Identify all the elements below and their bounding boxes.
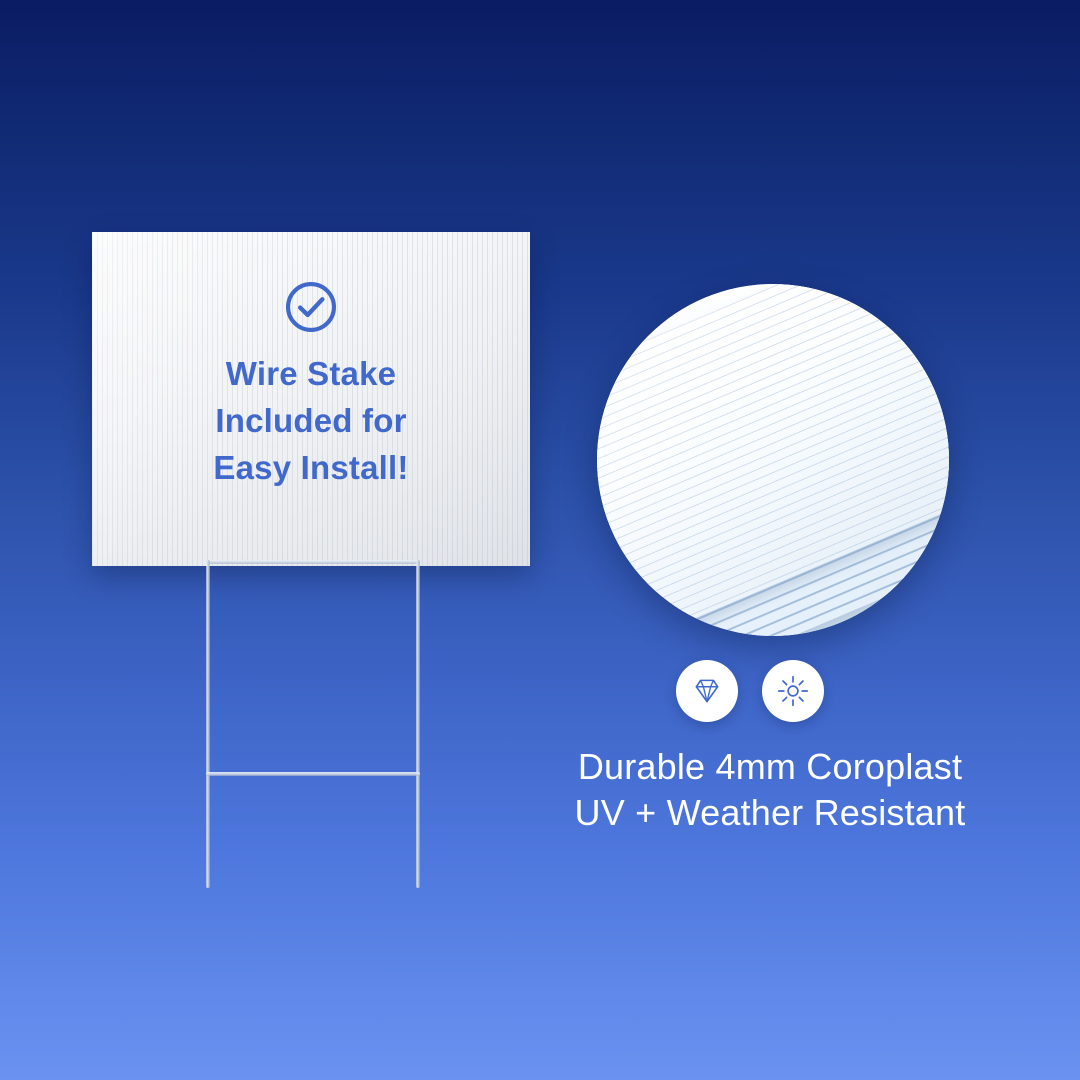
wire-stake-cross-bar <box>206 772 420 776</box>
check-circle-icon <box>282 278 340 336</box>
yard-sign-text: Wire Stake Included for Easy Install! <box>213 350 408 491</box>
badge-durable <box>676 660 738 722</box>
yard-sign-content: Wire Stake Included for Easy Install! <box>92 232 530 566</box>
wire-stake-left-leg <box>206 560 210 888</box>
caption-line-2: UV + Weather Resistant <box>540 790 1000 836</box>
yard-sign-line-3: Easy Install! <box>213 444 408 491</box>
caption-line-1: Durable 4mm Coroplast <box>540 744 1000 790</box>
wire-stake <box>206 560 420 888</box>
diamond-icon <box>690 674 724 708</box>
badge-uv-resistant <box>762 660 824 722</box>
yard-sign-line-1: Wire Stake <box>213 350 408 397</box>
sun-icon <box>776 674 810 708</box>
yard-sign: Wire Stake Included for Easy Install! <box>92 232 530 566</box>
coroplast-closeup-photo <box>597 284 949 636</box>
product-feature-graphic: Wire Stake Included for Easy Install! <box>0 0 1080 1080</box>
feature-badges <box>676 660 824 722</box>
caption-text: Durable 4mm Coroplast UV + Weather Resis… <box>540 744 1000 836</box>
yard-sign-line-2: Included for <box>213 397 408 444</box>
coroplast-photo-inner <box>597 284 949 636</box>
wire-stake-right-leg <box>416 560 420 888</box>
